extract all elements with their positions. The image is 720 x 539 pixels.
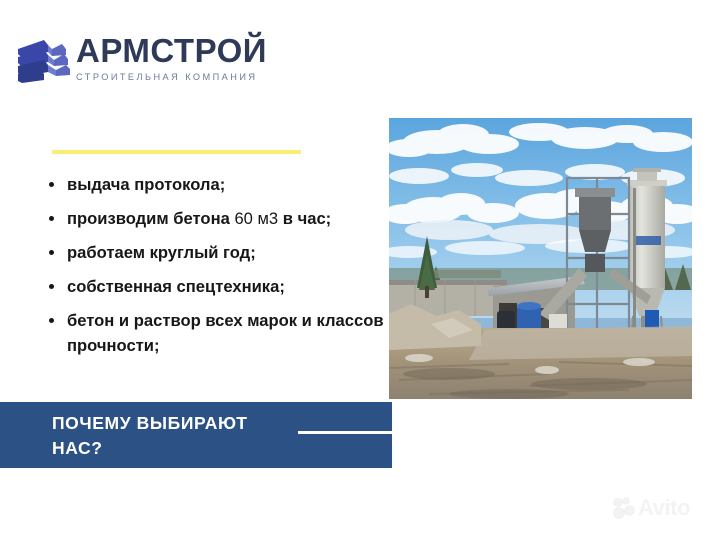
list-item-light: 60 м3 — [234, 209, 278, 228]
list-item-text: работаем круглый год — [67, 243, 250, 262]
company-logo: АРМСТРОЙ СТРОИТЕЛЬНАЯ КОМПАНИЯ — [14, 32, 314, 92]
list-item-tail: в час; — [278, 209, 331, 228]
logo-company-name: АРМСТРОЙ — [76, 32, 316, 70]
list-item-tail: ; — [279, 277, 285, 296]
logo-text: АРМСТРОЙ СТРОИТЕЛЬНАЯ КОМПАНИЯ — [76, 32, 316, 83]
logo-tagline: СТРОИТЕЛЬНАЯ КОМПАНИЯ — [76, 71, 316, 83]
section-banner: ПОЧЕМУ ВЫБИРАЮТ НАС? — [0, 402, 392, 468]
features-list: выдача протокола; производим бетона 60 м… — [44, 172, 384, 367]
banner-underline — [298, 431, 392, 434]
slide-canvas: АРМСТРОЙ СТРОИТЕЛЬНАЯ КОМПАНИЯ выдача пр… — [0, 0, 720, 539]
list-item-tail: ; — [154, 336, 160, 355]
avito-watermark-label: Avito — [638, 496, 690, 520]
list-item: бетон и раствор всех марок и классов про… — [44, 308, 384, 358]
list-item-text: выдача протокола — [67, 175, 220, 194]
concrete-plant-photo — [389, 118, 692, 399]
avito-watermark: Avito — [614, 493, 706, 523]
list-item-tail: ; — [250, 243, 256, 262]
list-item-text: производим бетона — [67, 209, 234, 228]
list-item: собственная спецтехника; — [44, 274, 384, 299]
list-item: производим бетона 60 м3 в час; — [44, 206, 384, 231]
list-item-text: собственная спецтехника — [67, 277, 279, 296]
avito-dots-icon — [614, 498, 635, 519]
list-item-tail: ; — [220, 175, 226, 194]
accent-divider — [52, 150, 301, 154]
list-item-text: бетон и раствор всех марок и классов про… — [67, 311, 384, 355]
banner-heading-line2: НАС? — [52, 436, 352, 461]
list-item: выдача протокола; — [44, 172, 384, 197]
banner-heading: ПОЧЕМУ ВЫБИРАЮТ НАС? — [52, 411, 352, 461]
building-steps-icon — [14, 38, 70, 84]
list-item: работаем круглый год; — [44, 240, 384, 265]
